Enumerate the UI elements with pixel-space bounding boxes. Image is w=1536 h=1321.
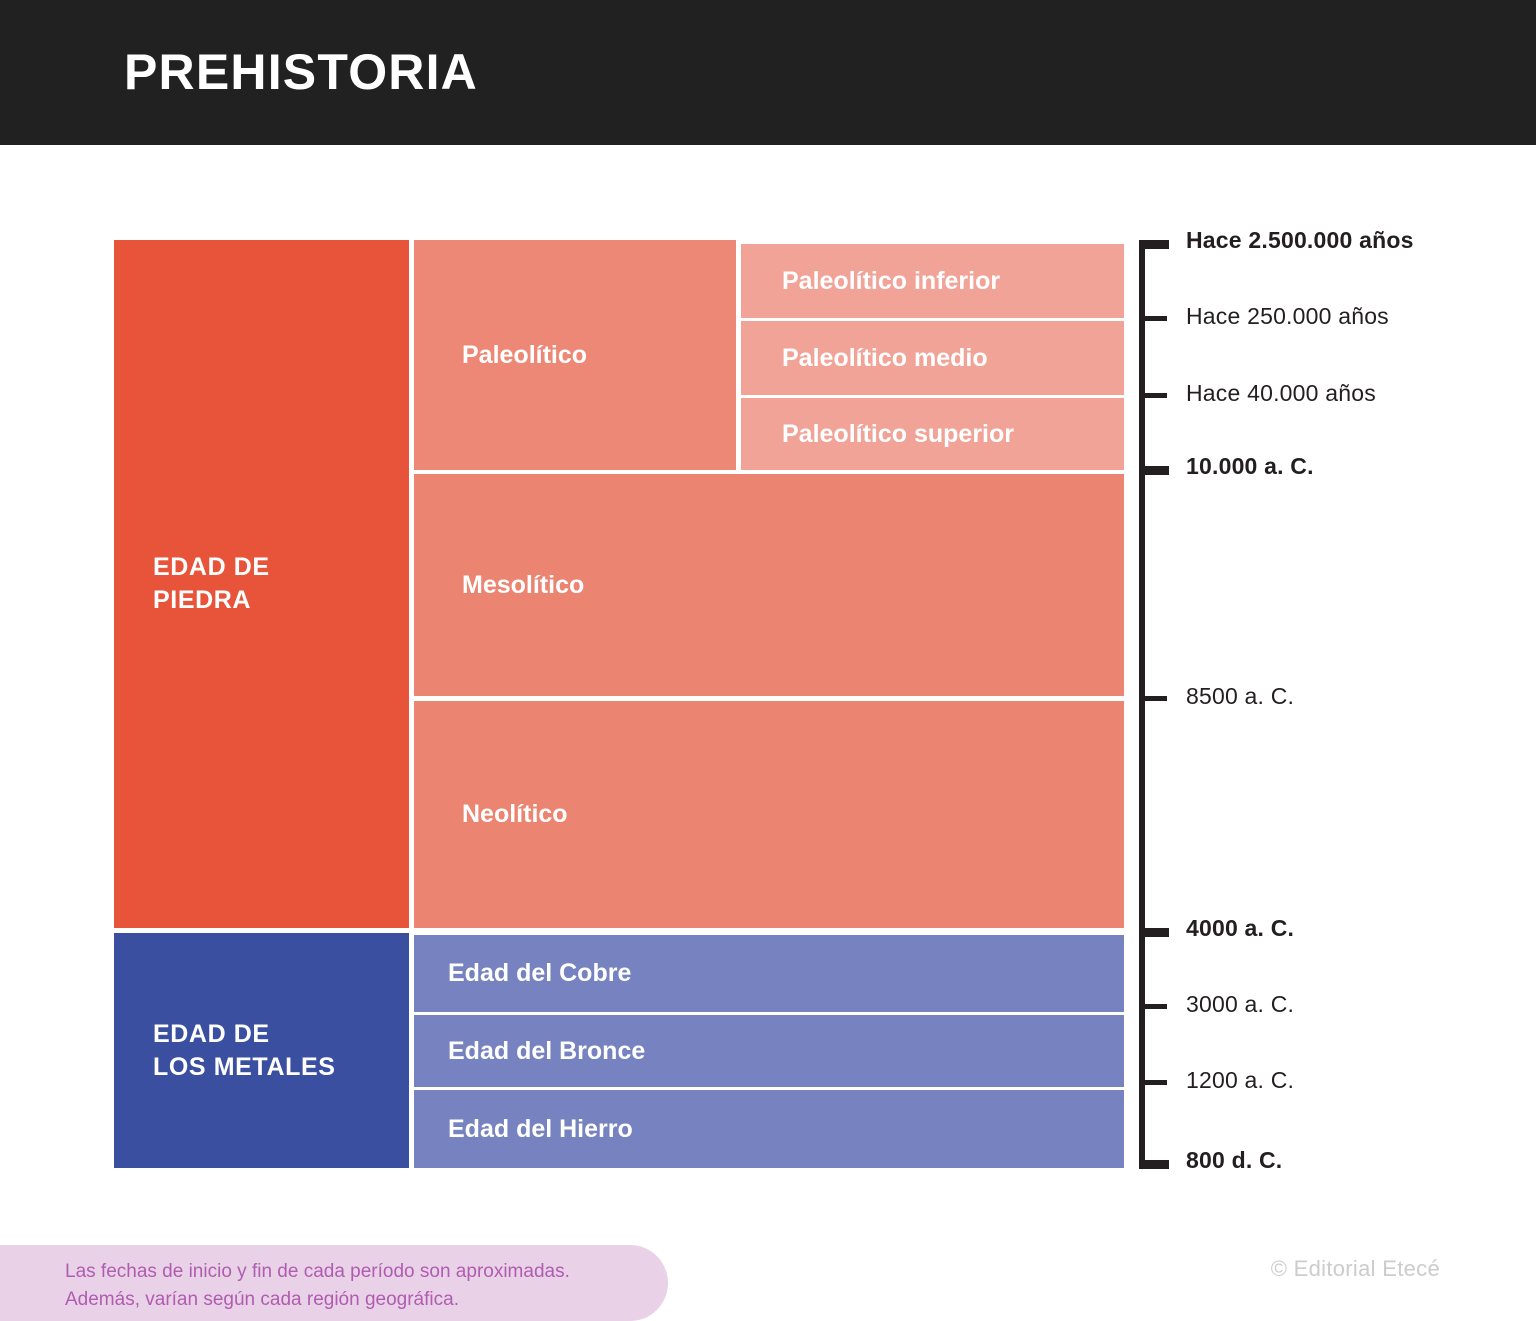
subperiod-label-edad-del-bronce: Edad del Bronce xyxy=(448,1037,645,1066)
timeline-tick-mark xyxy=(1139,316,1167,321)
subperiod-block-edad-del-cobre[interactable]: Edad del Cobre xyxy=(414,935,1124,1012)
period-block-mesolitico[interactable]: Mesolítico xyxy=(414,474,1124,696)
timeline-tick-mark xyxy=(1139,393,1167,398)
timeline-tick-label: Hace 250.000 años xyxy=(1186,303,1389,330)
subperiod-block-edad-del-hierro[interactable]: Edad del Hierro xyxy=(414,1090,1124,1168)
timeline-tick-label: 10.000 a. C. xyxy=(1186,453,1314,480)
age-label-stone-line1: EDAD DE xyxy=(153,553,270,581)
footnote-line-1: Las fechas de inicio y fin de cada perío… xyxy=(65,1261,570,1282)
timeline-tick-mark xyxy=(1139,1160,1169,1169)
period-block-neolitico[interactable]: Neolítico xyxy=(414,701,1124,928)
timeline-tick-mark xyxy=(1139,466,1169,475)
timeline-tick-mark xyxy=(1139,1080,1167,1085)
age-label-stone-line2: PIEDRA xyxy=(153,586,251,614)
timeline-tick-label: 3000 a. C. xyxy=(1186,991,1294,1018)
subperiod-block-paleolitico-inferior[interactable]: Paleolítico inferior xyxy=(741,244,1124,318)
timeline-tick-mark xyxy=(1139,928,1169,937)
period-block-paleolitico[interactable]: Paleolítico xyxy=(414,240,736,470)
age-block-metals[interactable]: EDAD DE LOS METALES xyxy=(114,933,409,1168)
timeline-tick-label: 4000 a. C. xyxy=(1186,915,1294,942)
timeline-tick-label: 1200 a. C. xyxy=(1186,1067,1294,1094)
infographic-page: PREHISTORIA EDAD DE PIEDRA EDAD DE LOS M… xyxy=(0,0,1536,1321)
age-label-metals: EDAD DE LOS METALES xyxy=(153,1018,336,1084)
age-block-stone[interactable]: EDAD DE PIEDRA xyxy=(114,240,409,928)
timeline-axis-line xyxy=(1139,240,1145,1168)
timeline-tick-label: 800 d. C. xyxy=(1186,1147,1282,1174)
period-label-paleolitico: Paleolítico xyxy=(462,341,587,370)
age-label-metals-line2: LOS METALES xyxy=(153,1053,336,1081)
subperiod-block-paleolitico-superior[interactable]: Paleolítico superior xyxy=(741,398,1124,470)
subperiod-label-paleolitico-inferior: Paleolítico inferior xyxy=(782,267,1000,296)
credit-label: © Editorial Etecé xyxy=(1271,1256,1440,1282)
age-label-metals-line1: EDAD DE xyxy=(153,1020,270,1048)
subperiod-block-paleolitico-medio[interactable]: Paleolítico medio xyxy=(741,321,1124,395)
timeline-tick-label: 8500 a. C. xyxy=(1186,683,1294,710)
timeline-tick-label: Hace 2.500.000 años xyxy=(1186,227,1414,254)
timeline-tick-mark xyxy=(1139,1004,1167,1009)
subperiod-label-paleolitico-medio: Paleolítico medio xyxy=(782,344,988,373)
subperiod-label-paleolitico-superior: Paleolítico superior xyxy=(782,420,1014,449)
subperiod-label-edad-del-cobre: Edad del Cobre xyxy=(448,959,631,988)
timeline-chart: EDAD DE PIEDRA EDAD DE LOS METALES Paleo… xyxy=(0,0,1536,1321)
timeline-tick-mark xyxy=(1139,696,1167,701)
subperiod-label-edad-del-hierro: Edad del Hierro xyxy=(448,1115,633,1144)
timeline-tick-mark xyxy=(1139,240,1169,249)
period-label-mesolitico: Mesolítico xyxy=(462,571,584,600)
period-label-neolitico: Neolítico xyxy=(462,800,568,829)
age-label-stone: EDAD DE PIEDRA xyxy=(153,551,270,617)
subperiod-block-edad-del-bronce[interactable]: Edad del Bronce xyxy=(414,1015,1124,1087)
footnote-text: Las fechas de inicio y fin de cada perío… xyxy=(65,1258,665,1313)
footnote-line-2: Además, varían según cada región geográf… xyxy=(65,1289,459,1310)
timeline-tick-label: Hace 40.000 años xyxy=(1186,380,1376,407)
